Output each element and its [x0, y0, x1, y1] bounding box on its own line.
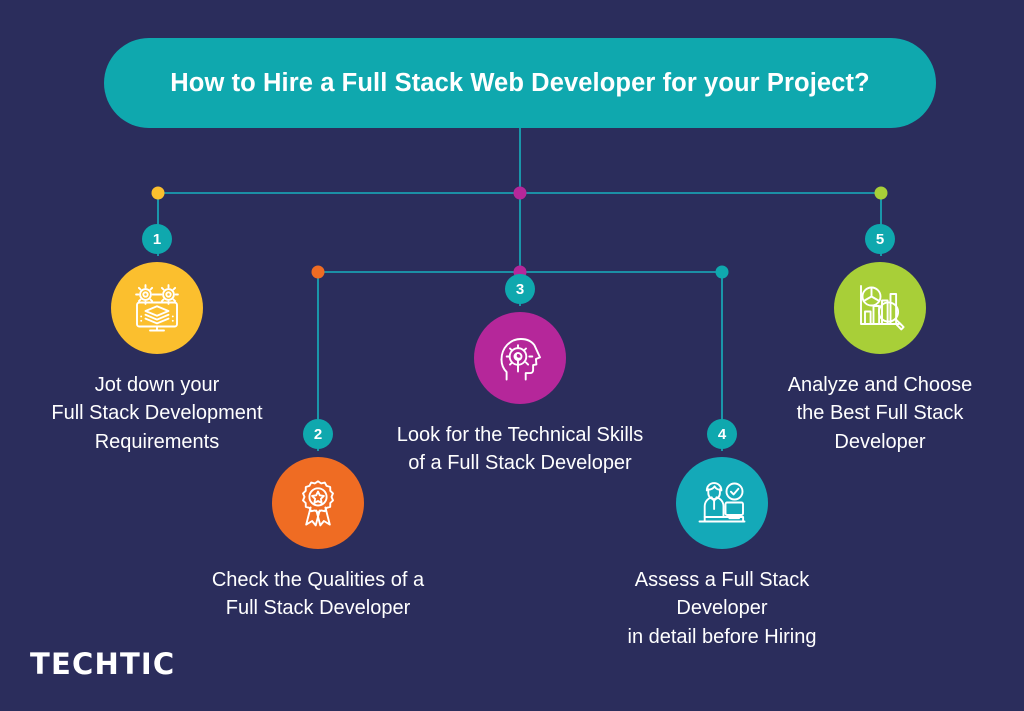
head-gear-wrench-icon — [494, 332, 546, 384]
step-3-circle[interactable]: 3 — [474, 312, 566, 404]
award-ribbon-icon — [293, 478, 343, 528]
step-node-3[interactable]: 3 Look for the Technical Skills of a Ful… — [390, 312, 650, 478]
chart-magnifier-icon — [854, 283, 906, 333]
step-2-circle[interactable]: 2 — [272, 457, 364, 549]
dot-step-4 — [716, 266, 729, 279]
dot-trunk-upper — [514, 187, 527, 200]
step-5-badge: 5 — [865, 224, 895, 254]
step-node-4[interactable]: 4 — [592, 457, 852, 651]
step-1-label: Jot down your Full Stack Development Req… — [51, 371, 262, 456]
title-banner: How to Hire a Full Stack Web Developer f… — [104, 38, 936, 128]
techtic-logo: TECHTIC — [30, 647, 175, 681]
dot-step-5 — [875, 187, 888, 200]
step-3-badge: 3 — [505, 274, 535, 304]
step-2-badge: 2 — [303, 419, 333, 449]
page-title: How to Hire a Full Stack Web Developer f… — [170, 69, 869, 98]
infographic-canvas: How to Hire a Full Stack Web Developer f… — [0, 0, 1024, 711]
step-5-label: Analyze and Choose the Best Full Stack D… — [788, 371, 973, 456]
dot-step-2 — [312, 266, 325, 279]
step-4-label: Assess a Full Stack Developer in detail … — [592, 566, 852, 651]
step-1-circle[interactable]: 1 — [111, 262, 203, 354]
step-node-1[interactable]: 1 — [27, 262, 287, 456]
step-4-circle[interactable]: 4 — [676, 457, 768, 549]
step-1-badge: 1 — [142, 224, 172, 254]
step-4-badge: 4 — [707, 419, 737, 449]
step-node-2[interactable]: 2 Check the Qualities of a Full Stack De… — [188, 457, 448, 623]
monitor-gears-layers-icon — [131, 282, 183, 334]
step-2-label: Check the Qualities of a Full Stack Deve… — [212, 566, 424, 623]
person-desk-check-icon — [695, 477, 749, 529]
step-node-5[interactable]: 5 Ana — [750, 262, 1010, 456]
dot-step-1 — [152, 187, 165, 200]
step-5-circle[interactable]: 5 — [834, 262, 926, 354]
